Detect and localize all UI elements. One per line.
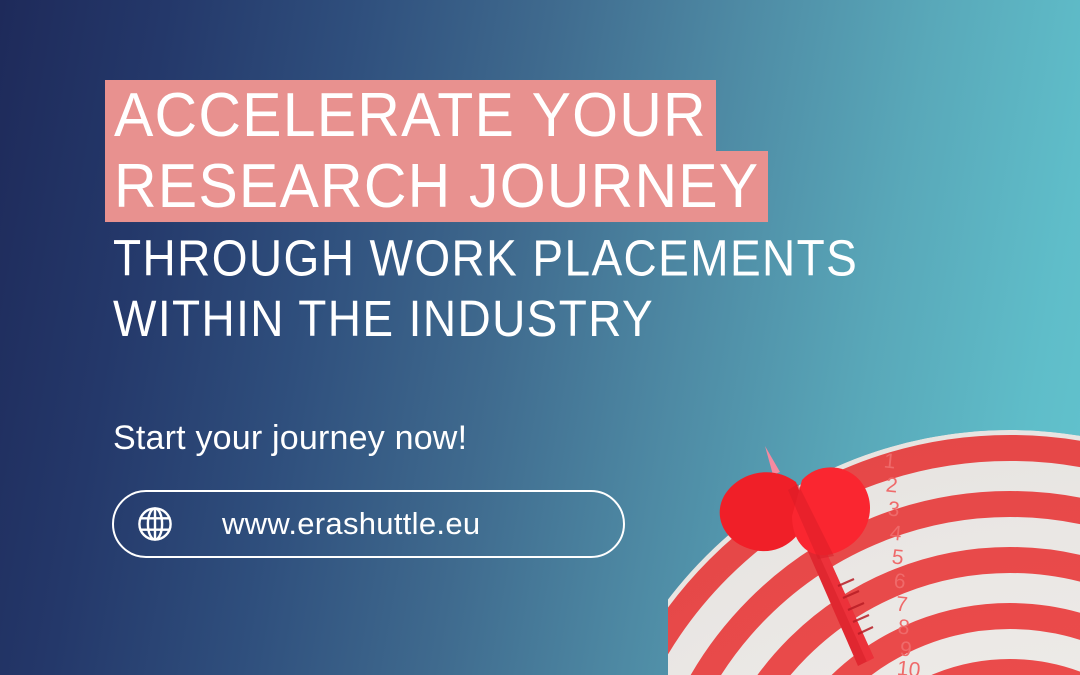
headline: ACCELERATE YOUR RESEARCH JOURNEY — [105, 80, 768, 218]
svg-text:5: 5 — [891, 545, 905, 569]
dartboard-artwork: 1 2 3 4 5 6 7 8 9 10 — [668, 420, 1080, 675]
dart — [720, 446, 874, 666]
cta-prompt: Start your journey now! — [113, 417, 467, 459]
dartboard-rings — [668, 430, 1080, 675]
dartboard-ring-numbers: 1 2 3 4 5 6 7 8 9 10 — [883, 449, 922, 675]
website-url-label: www.erashuttle.eu — [222, 506, 480, 542]
svg-text:6: 6 — [893, 569, 907, 593]
dartboard-svg: 1 2 3 4 5 6 7 8 9 10 — [668, 420, 1080, 675]
subheadline-line-1: THROUGH WORK PLACEMENTS — [113, 228, 858, 289]
svg-text:3: 3 — [887, 497, 901, 521]
svg-text:7: 7 — [895, 592, 909, 616]
subheadline: THROUGH WORK PLACEMENTS WITHIN THE INDUS… — [113, 228, 858, 349]
svg-text:1: 1 — [883, 449, 897, 473]
svg-text:9: 9 — [899, 637, 913, 661]
svg-text:4: 4 — [889, 521, 903, 545]
svg-text:8: 8 — [897, 615, 911, 639]
subheadline-line-2: WITHIN THE INDUSTRY — [113, 289, 858, 350]
headline-line-1: ACCELERATE YOUR — [105, 80, 716, 151]
svg-text:10: 10 — [896, 657, 922, 675]
svg-text:2: 2 — [885, 473, 899, 497]
website-url-button[interactable]: www.erashuttle.eu — [112, 490, 625, 558]
globe-icon — [132, 501, 178, 547]
promotional-banner: 1 2 3 4 5 6 7 8 9 10 — [0, 0, 1080, 675]
headline-line-2: RESEARCH JOURNEY — [105, 151, 768, 222]
